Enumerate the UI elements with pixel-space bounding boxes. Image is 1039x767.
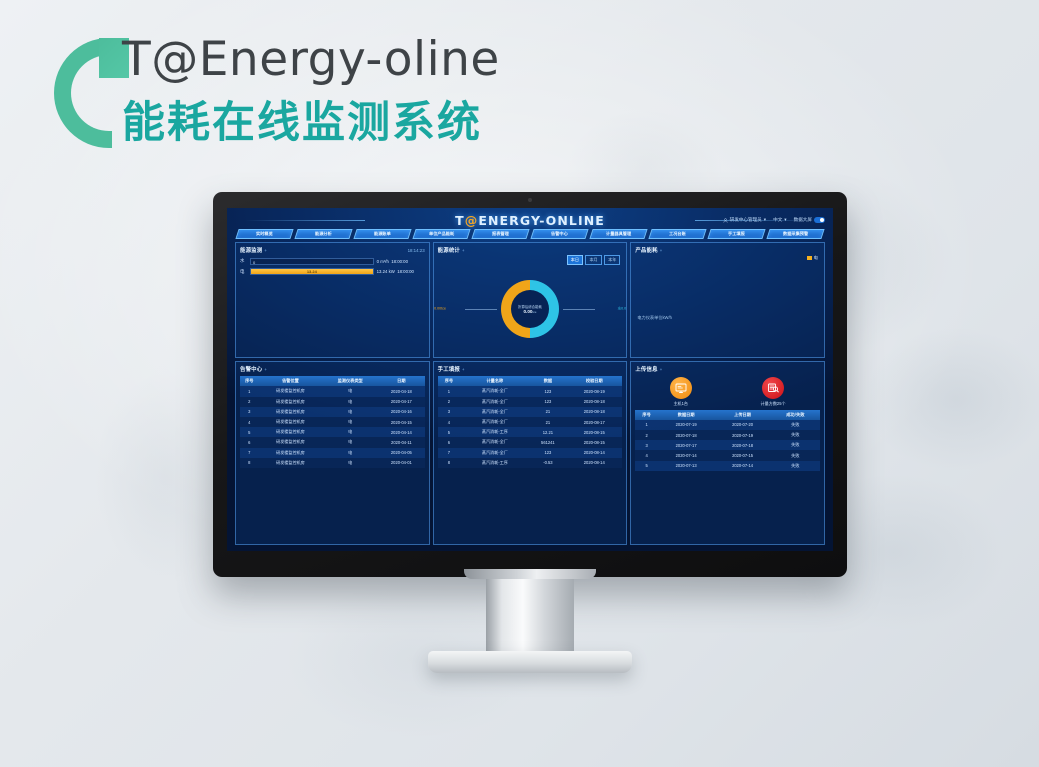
table-cell: 2 <box>240 397 259 407</box>
main-nav: 实时概览 能源分析 能源账单 单位产品能耗 报表管理 告警中心 计量器具管理 工… <box>237 229 823 239</box>
nav-item-0[interactable]: 实时概览 <box>235 229 294 239</box>
product-energy-more-button[interactable]: + <box>660 248 662 253</box>
alarm-center-title: 告警中心 <box>240 365 262 373</box>
table-cell: 2020-07-19 <box>714 430 770 440</box>
nav-item-2-label: 能源账单 <box>374 231 391 237</box>
table-cell: 2020-07-20 <box>714 420 770 430</box>
table-cell: 蒸汽消耗-全厂 <box>460 437 529 447</box>
webcam-icon <box>528 198 532 202</box>
table-cell: 21 <box>530 407 567 417</box>
table-cell: 2020-04-05 <box>378 448 425 458</box>
energy-monitor-title: 能源监测 <box>240 246 262 254</box>
donut-label-left: 电力0.00tce <box>433 307 446 312</box>
table-cell: 2020-08-14 <box>566 458 622 468</box>
upload-col-3: 成功/失败 <box>771 410 820 420</box>
nav-item-2[interactable]: 能源账单 <box>353 229 412 239</box>
energy-row-water-value: 0 <box>253 260 255 265</box>
upload-info-title: 上传信息 <box>635 365 657 373</box>
table-cell: 2020-08-19 <box>566 386 622 396</box>
manual-col-0: 序号 <box>438 376 460 386</box>
upload-info-header: 上传信息 + <box>635 365 820 373</box>
nav-item-1[interactable]: 能源分析 <box>294 229 353 239</box>
manual-entry-table: 序号计量名称数据校验日期 1蒸汽消耗-全厂1232020-08-192蒸汽消耗-… <box>438 376 623 468</box>
table-cell: 失败 <box>771 450 820 460</box>
energy-stats-header: 能源统计 + <box>438 246 623 254</box>
table-row[interactable]: 7蒸汽消耗-全厂1232020-08-14 <box>438 448 623 458</box>
alarm-center-header: 告警中心 + <box>240 365 425 373</box>
donut-chart: 电力0.00tce 水0.00tce 折算后综合能耗 0.00tce <box>501 280 559 338</box>
dashboard: T@ENERGY-ONLINE 研发中心管理员 ▾ 中文 ▾ 数据大 <box>227 208 833 551</box>
alarm-center-table: 序号告警位置监测仪表类型日期 1研发楼监控机房电2020-04-182研发楼监控… <box>240 376 425 468</box>
elec-reading: 13.24 kW <box>377 269 395 274</box>
table-cell: 失败 <box>771 440 820 450</box>
table-cell: 7 <box>240 448 259 458</box>
table-row[interactable]: 22020-07-182020-07-19失败 <box>635 430 820 440</box>
manual-col-2: 数据 <box>530 376 567 386</box>
monitor-mockup: T@ENERGY-ONLINE 研发中心管理员 ▾ 中文 ▾ 数据大 <box>213 192 847 577</box>
upload-col-2: 上传日期 <box>714 410 770 420</box>
donut-center-value: 0.00tce <box>524 309 537 314</box>
table-row[interactable]: 4研发楼监控机房电2020-04-15 <box>240 417 425 427</box>
nav-item-9[interactable]: 数据采集预警 <box>766 229 825 239</box>
manual-entry-header-row: 序号计量名称数据校验日期 <box>438 376 623 386</box>
nav-item-8[interactable]: 手工填报 <box>707 229 766 239</box>
upload-stat-host-label: 主机1台 <box>670 401 692 407</box>
panel-grid: 能源监测 + 18:14:23 水 0 0 m³/h 18:00:00 <box>235 242 825 545</box>
nav-item-6-label: 计量器具管理 <box>606 231 631 237</box>
donut-label-right: 水0.00tce <box>618 307 628 312</box>
table-cell: 21 <box>530 417 567 427</box>
table-cell: 3 <box>438 407 460 417</box>
manual-entry-body: 1蒸汽消耗-全厂1232020-08-192蒸汽消耗-全厂1232020-08-… <box>438 386 623 468</box>
chart-tab-day[interactable]: 本日 <box>567 255 583 265</box>
chart-tab-year[interactable]: 本年 <box>604 255 620 265</box>
table-cell: 2020-07-14 <box>714 461 770 471</box>
table-cell: 2020-07-14 <box>658 450 714 460</box>
topbar-right: 研发中心管理员 ▾ 中文 ▾ 数据大屏 <box>723 217 825 223</box>
user-menu[interactable]: 研发中心管理员 ▾ <box>723 217 766 223</box>
language-label: 中文 <box>773 217 782 223</box>
table-cell: 电 <box>322 417 378 427</box>
table-cell: 研发楼监控机房 <box>259 397 323 407</box>
table-row[interactable]: 6蒸汽消耗-全厂5612412020-08-15 <box>438 437 623 447</box>
table-cell: 1 <box>635 420 658 430</box>
monitor-neck <box>486 569 574 659</box>
table-cell: 2020-04-01 <box>378 458 425 468</box>
chevron-down-icon: ▾ <box>764 217 766 223</box>
upload-col-0: 序号 <box>635 410 658 420</box>
nav-item-3[interactable]: 单位产品能耗 <box>412 229 471 239</box>
manual-entry-more-button[interactable]: + <box>462 367 464 372</box>
table-row[interactable]: 1蒸汽消耗-全厂1232020-08-19 <box>438 386 623 396</box>
legend-label-electricity: 电 <box>814 255 818 261</box>
alarm-col-3: 日期 <box>378 376 425 386</box>
bigscreen-label: 数据大屏 <box>794 217 812 223</box>
nav-item-8-label: 手工填报 <box>728 231 745 237</box>
table-cell: 蒸汽消耗-全厂 <box>460 448 529 458</box>
table-cell: 4 <box>635 450 658 460</box>
upload-info-body: 12020-07-192020-07-20失败22020-07-182020-0… <box>635 420 820 471</box>
table-cell: 研发楼监控机房 <box>259 386 323 396</box>
legend-swatch-electricity <box>807 256 812 259</box>
energy-row-electricity: 电 13.24 13.24 kW 18:00:00 <box>240 268 425 275</box>
table-cell: 6 <box>240 437 259 447</box>
table-row[interactable]: 7研发楼监控机房电2020-04-05 <box>240 448 425 458</box>
donut-center-label: 折算后综合能耗 <box>518 304 542 309</box>
upload-stat-meters[interactable]: 计量方数25个 <box>761 377 786 407</box>
table-cell: 蒸汽消耗-全厂 <box>460 407 529 417</box>
table-cell: 2 <box>635 430 658 440</box>
table-row[interactable]: 4蒸汽消耗-全厂212020-08-17 <box>438 417 623 427</box>
user-icon <box>723 218 728 223</box>
table-cell: 蒸汽消耗-全厂 <box>460 397 529 407</box>
table-cell: 研发楼监控机房 <box>259 437 323 447</box>
table-cell: 2020-08-15 <box>566 427 622 437</box>
alarm-col-1: 告警位置 <box>259 376 323 386</box>
product-energy-title: 产品能耗 <box>635 246 657 254</box>
table-cell: 561241 <box>530 437 567 447</box>
panel-upload-info: 上传信息 + 主机1台 <box>630 361 825 545</box>
table-cell: 2020-08-17 <box>566 417 622 427</box>
nav-item-5[interactable]: 告警中心 <box>530 229 589 239</box>
monitor-screen: T@ENERGY-ONLINE 研发中心管理员 ▾ 中文 ▾ 数据大 <box>227 208 833 551</box>
table-cell: 2020-07-18 <box>714 440 770 450</box>
table-cell: 电 <box>322 458 378 468</box>
panel-energy-stats: 能源统计 + 本日 本月 本年 电力0.00tce <box>433 242 628 358</box>
table-cell: 5 <box>635 461 658 471</box>
table-cell: 5 <box>240 427 259 437</box>
table-cell: 2020-07-15 <box>714 450 770 460</box>
bigscreen-toggle-group[interactable]: 数据大屏 <box>794 217 825 223</box>
page-title: T@Energy-oline <box>122 32 500 87</box>
dashboard-title-prefix: T <box>455 213 465 228</box>
monitor-host-icon <box>670 377 692 399</box>
table-cell: 123 <box>530 448 567 458</box>
energy-row-electricity-name: 电 <box>240 269 247 275</box>
bigscreen-toggle[interactable] <box>814 217 825 223</box>
table-cell: 电 <box>322 386 378 396</box>
nav-item-4-label: 报表管理 <box>492 231 509 237</box>
table-row[interactable]: 3蒸汽消耗-全厂212020-08-18 <box>438 407 623 417</box>
upload-info-table: 序号数据日期上传日期成功/失败 12020-07-192020-07-20失败2… <box>635 410 820 471</box>
monitor-bezel: T@ENERGY-ONLINE 研发中心管理员 ▾ 中文 ▾ 数据大 <box>213 192 847 577</box>
nav-item-4[interactable]: 报表管理 <box>471 229 530 239</box>
table-row[interactable]: 6研发楼监控机房电2020-04-11 <box>240 437 425 447</box>
table-cell: 7 <box>438 448 460 458</box>
water-reading: 0 m³/h <box>377 259 389 264</box>
table-cell: 2020-08-15 <box>566 437 622 447</box>
table-cell: 5 <box>438 427 460 437</box>
energy-row-water: 水 0 0 m³/h 18:00:00 <box>240 258 425 265</box>
elec-time: 18:00:00 <box>397 269 414 274</box>
table-cell: 6 <box>438 437 460 447</box>
panel-product-energy: 产品能耗 + 电 电力仪表单位kW/h <box>630 242 825 358</box>
table-cell: 电 <box>322 427 378 437</box>
water-time: 18:00:00 <box>391 259 408 264</box>
table-row[interactable]: 8研发楼监控机房电2020-04-01 <box>240 458 425 468</box>
chart-period-tabs: 本日 本月 本年 <box>567 255 621 265</box>
energy-monitor-header: 能源监测 + 18:14:23 <box>240 246 425 254</box>
table-cell: 电 <box>322 407 378 417</box>
table-cell: 2020-07-13 <box>658 461 714 471</box>
alarm-center-body: 1研发楼监控机房电2020-04-182研发楼监控机房电2020-04-173研… <box>240 386 425 468</box>
nav-item-6[interactable]: 计量器具管理 <box>589 229 648 239</box>
alarm-center-header-row: 序号告警位置监测仪表类型日期 <box>240 376 425 386</box>
table-cell: 3 <box>240 407 259 417</box>
donut-center: 折算后综合能耗 0.00tce <box>511 290 549 328</box>
alarm-col-0: 序号 <box>240 376 259 386</box>
table-cell: 4 <box>438 417 460 427</box>
upload-stat-meters-label: 计量方数25个 <box>761 401 786 407</box>
table-cell: 电 <box>322 437 378 447</box>
table-row[interactable]: 2研发楼监控机房电2020-04-17 <box>240 397 425 407</box>
table-cell: 2020-04-15 <box>378 417 425 427</box>
energy-row-water-name: 水 <box>240 258 247 264</box>
table-cell: 12.21 <box>530 427 567 437</box>
table-cell: 123 <box>530 386 567 396</box>
table-cell: 蒸汽消耗-全厂 <box>460 417 529 427</box>
table-cell: 2020-08-18 <box>566 407 622 417</box>
product-energy-legend: 电 <box>807 255 818 261</box>
table-cell: 2020-07-17 <box>658 440 714 450</box>
table-cell: 8 <box>240 458 259 468</box>
energy-stats-more-button[interactable]: + <box>462 248 464 253</box>
donut-chart-wrap: 电力0.00tce 水0.00tce 折算后综合能耗 0.00tce <box>434 265 627 353</box>
energy-row-water-reading: 0 m³/h 18:00:00 <box>377 259 425 264</box>
user-label: 研发中心管理员 <box>730 217 762 223</box>
energy-monitor-clock: 18:14:23 <box>408 248 425 253</box>
table-cell: 8 <box>438 458 460 468</box>
panel-alarm-center: 告警中心 + 序号告警位置监测仪表类型日期 1研发楼监控机房电2020-04-1… <box>235 361 430 545</box>
table-cell: 2020-08-18 <box>566 397 622 407</box>
nav-item-3-label: 单位产品能耗 <box>429 231 454 237</box>
table-cell: 研发楼监控机房 <box>259 427 323 437</box>
energy-monitor-more-button[interactable]: + <box>264 248 266 253</box>
table-cell: 研发楼监控机房 <box>259 448 323 458</box>
manual-col-1: 计量名称 <box>460 376 529 386</box>
table-cell: 2 <box>438 397 460 407</box>
table-cell: 2020-04-16 <box>378 407 425 417</box>
nav-item-1-label: 能源分析 <box>315 231 332 237</box>
table-row[interactable]: 1研发楼监控机房电2020-04-18 <box>240 386 425 396</box>
table-row[interactable]: 42020-07-142020-07-15失败 <box>635 450 820 460</box>
table-cell: 电 <box>322 448 378 458</box>
product-energy-header: 产品能耗 + <box>635 246 820 254</box>
energy-row-electricity-reading: 13.24 kW 18:00:00 <box>377 269 425 274</box>
table-cell: 蒸汽消耗-工序 <box>460 427 529 437</box>
table-row[interactable]: 12020-07-192020-07-20失败 <box>635 420 820 430</box>
dashboard-title-at: @ <box>465 213 479 228</box>
alarm-col-2: 监测仪表类型 <box>322 376 378 386</box>
donut-center-unit: tce <box>532 310 536 314</box>
table-row[interactable]: 3研发楼监控机房电2020-04-16 <box>240 407 425 417</box>
manual-entry-title: 手工填报 <box>438 365 460 373</box>
table-row[interactable]: 32020-07-172020-07-18失败 <box>635 440 820 450</box>
document-search-icon <box>762 377 784 399</box>
table-cell: 失败 <box>771 430 820 440</box>
table-cell: 2020-08-14 <box>566 448 622 458</box>
table-cell: 2020-04-11 <box>378 437 425 447</box>
energy-row-electricity-bar: 13.24 <box>250 268 374 275</box>
table-cell: 4 <box>240 417 259 427</box>
table-row[interactable]: 52020-07-132020-07-14失败 <box>635 461 820 471</box>
table-cell: 失败 <box>771 420 820 430</box>
page-subtitle: 能耗在线监测系统 <box>122 88 482 150</box>
table-cell: 2020-04-14 <box>378 427 425 437</box>
language-menu[interactable]: 中文 ▾ <box>773 217 787 223</box>
table-cell: 1 <box>240 386 259 396</box>
energy-row-water-bar: 0 <box>250 258 374 265</box>
nav-item-0-label: 实时概览 <box>256 231 273 237</box>
table-row[interactable]: 5研发楼监控机房电2020-04-14 <box>240 427 425 437</box>
table-row[interactable]: 2蒸汽消耗-全厂1232020-08-18 <box>438 397 623 407</box>
table-cell: -0.53 <box>530 458 567 468</box>
chart-tab-month[interactable]: 本月 <box>585 255 601 265</box>
dashboard-title-rest: ENERGY-ONLINE <box>478 213 605 228</box>
table-cell: 2020-07-19 <box>658 420 714 430</box>
table-row[interactable]: 8蒸汽消耗-工序-0.532020-08-14 <box>438 458 623 468</box>
table-cell: 2020-04-17 <box>378 397 425 407</box>
product-energy-note: 电力仪表单位kW/h <box>637 315 672 321</box>
table-row[interactable]: 5蒸汽消耗-工序12.212020-08-15 <box>438 427 623 437</box>
nav-item-9-label: 数据采集预警 <box>783 231 808 237</box>
nav-item-7[interactable]: 工况台账 <box>648 229 707 239</box>
table-cell: 3 <box>635 440 658 450</box>
table-cell: 研发楼监控机房 <box>259 458 323 468</box>
table-cell: 失败 <box>771 461 820 471</box>
upload-info-more-button[interactable]: + <box>660 367 662 372</box>
table-cell: 蒸汽消耗-全厂 <box>460 386 529 396</box>
table-cell: 研发楼监控机房 <box>259 407 323 417</box>
panel-manual-entry: 手工填报 + 序号计量名称数据校验日期 1蒸汽消耗-全厂1232020-08-1… <box>433 361 628 545</box>
nav-item-5-label: 告警中心 <box>551 231 568 237</box>
manual-col-3: 校验日期 <box>566 376 622 386</box>
upload-col-1: 数据日期 <box>658 410 714 420</box>
table-cell: 2020-04-18 <box>378 386 425 396</box>
upload-stat-icons: 主机1台 计量方数25个 <box>635 377 820 407</box>
energy-row-electricity-value: 13.24 <box>307 269 317 274</box>
chevron-down-icon-2: ▾ <box>784 217 786 223</box>
panel-energy-monitor: 能源监测 + 18:14:23 水 0 0 m³/h 18:00:00 <box>235 242 430 358</box>
monitor-base <box>428 651 632 673</box>
c-logo-icon <box>54 38 112 148</box>
table-cell: 2020-07-18 <box>658 430 714 440</box>
table-cell: 1 <box>438 386 460 396</box>
table-cell: 123 <box>530 397 567 407</box>
manual-entry-header: 手工填报 + <box>438 365 623 373</box>
table-cell: 研发楼监控机房 <box>259 417 323 427</box>
table-cell: 电 <box>322 397 378 407</box>
upload-info-header-row: 序号数据日期上传日期成功/失败 <box>635 410 820 420</box>
energy-stats-title: 能源统计 <box>438 246 460 254</box>
alarm-center-more-button[interactable]: + <box>264 367 266 372</box>
upload-stat-host[interactable]: 主机1台 <box>670 377 692 407</box>
table-cell: 蒸汽消耗-工序 <box>460 458 529 468</box>
nav-item-7-label: 工况台账 <box>669 231 686 237</box>
